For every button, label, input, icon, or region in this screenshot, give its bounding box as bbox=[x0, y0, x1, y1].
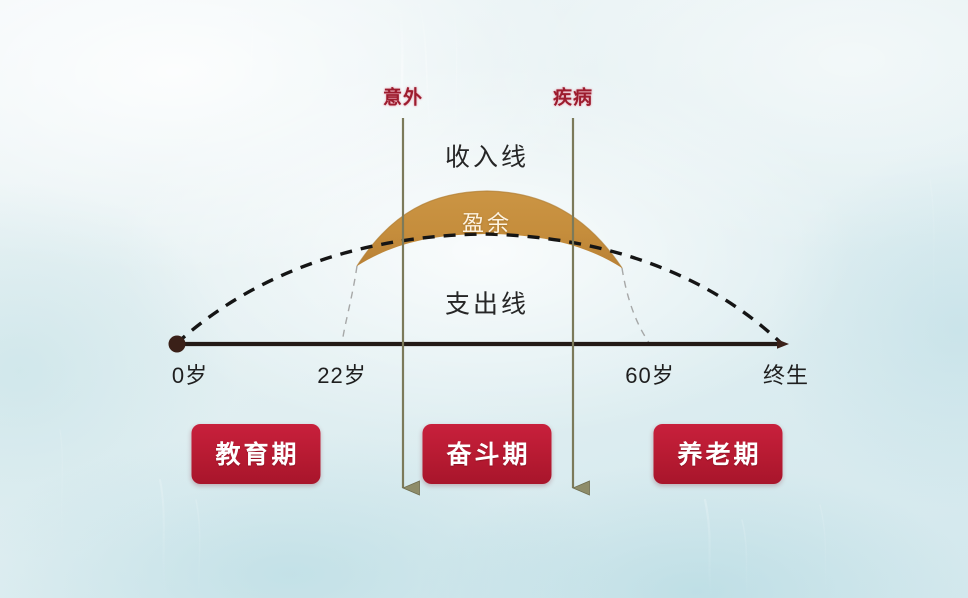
income-curve-label: 收入线 bbox=[445, 146, 529, 171]
guide-line-left bbox=[342, 266, 357, 344]
axis-tick-label-lifetime: 终生 bbox=[763, 365, 809, 387]
expenditure-curve bbox=[176, 234, 782, 344]
axis-tick-label-60: 60岁 bbox=[625, 365, 674, 387]
event-label-accident: 意外 bbox=[383, 89, 423, 108]
axis-tick-label-0: 0岁 bbox=[172, 365, 208, 387]
axis-tick-label-22: 22岁 bbox=[317, 365, 366, 387]
stage-badge-retirement[interactable]: 养老期 bbox=[653, 424, 782, 484]
expenditure-curve-label: 支出线 bbox=[445, 293, 529, 318]
stage-badge-struggle[interactable]: 奋斗期 bbox=[422, 424, 551, 484]
axis-origin-dot bbox=[169, 336, 186, 353]
surplus-region-label: 盈余 bbox=[462, 213, 512, 235]
life-income-expense-chart: 意外 疾病 收入线 盈余 支出线 0岁 22岁 60岁 终生 教育期 奋斗期 养… bbox=[0, 0, 968, 598]
stage-badge-education[interactable]: 教育期 bbox=[191, 424, 320, 484]
guide-line-right bbox=[622, 268, 650, 344]
event-label-illness: 疾病 bbox=[553, 89, 593, 108]
